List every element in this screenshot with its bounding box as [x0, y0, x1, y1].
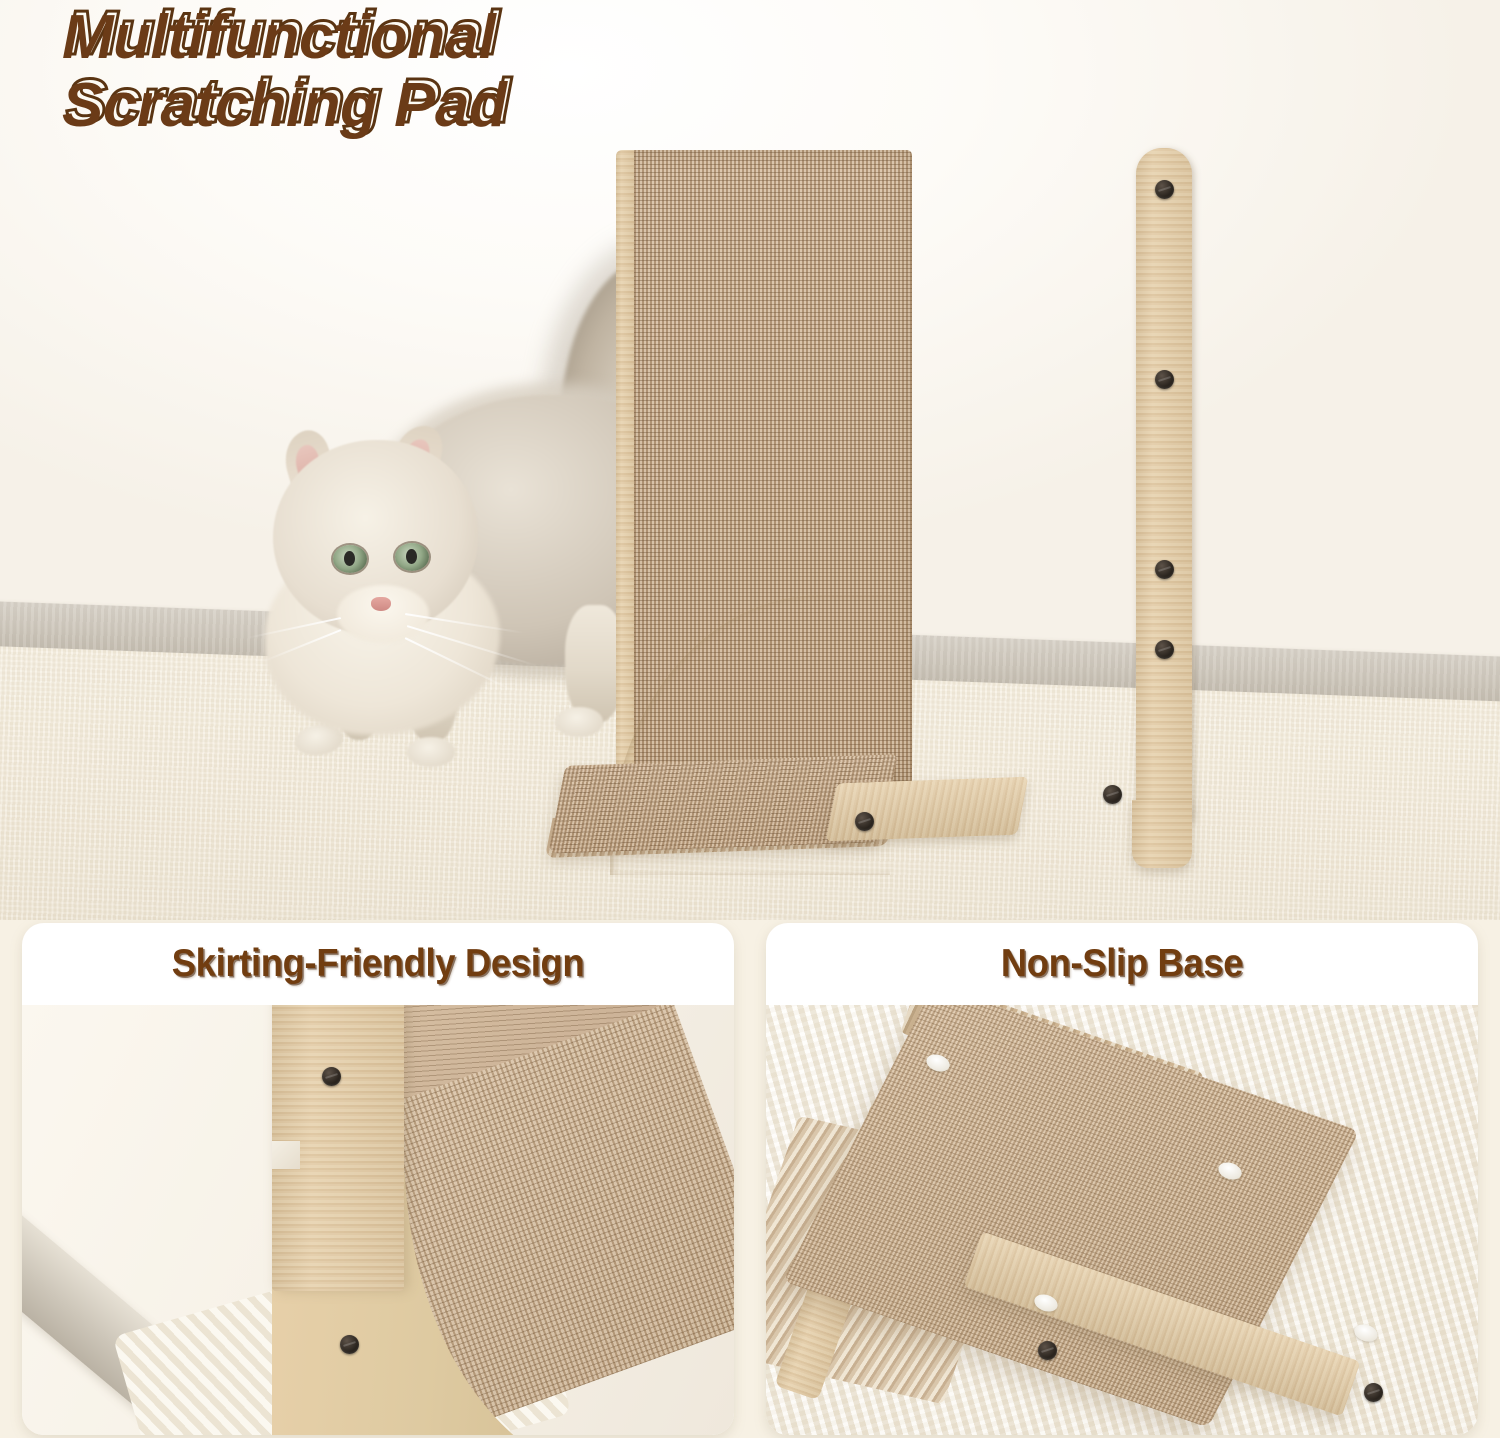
cat-eye-left [333, 545, 367, 573]
screw [1155, 370, 1174, 389]
screw [855, 812, 874, 831]
feature-photo-skirting [22, 1005, 734, 1435]
cat-nose [371, 597, 391, 611]
feature-photo-non-slip [766, 1005, 1478, 1435]
screw [1038, 1341, 1057, 1360]
sk-skirting-notch-cutout [272, 1141, 300, 1169]
feature-title-skirting: Skirting-Friendly Design [47, 923, 709, 1005]
base-front-wood-rail [826, 777, 1029, 842]
hero-title-line1: Multifunctional [62, 6, 842, 70]
side-panel-foot [1132, 800, 1192, 868]
cat-eye-right [395, 543, 429, 571]
cat-paw-front-right [407, 737, 455, 767]
screw [1364, 1383, 1383, 1402]
hero-section: Multifunctional Multifunctional Scratchi… [0, 0, 1500, 920]
feature-card-skirting-friendly-design[interactable]: Skirting-Friendly Design [22, 923, 734, 1435]
hero-title: Multifunctional Multifunctional Scratchi… [62, 6, 842, 138]
feature-title-non-slip: Non-Slip Base [791, 923, 1453, 1005]
screw [1103, 785, 1122, 804]
screw [1155, 640, 1174, 659]
side-wood-panel [1136, 148, 1192, 823]
screw [1155, 180, 1174, 199]
feature-cards: Skirting-Friendly Design Non-Slip Base [0, 923, 1500, 1435]
screw [1155, 560, 1174, 579]
scratching-pad-product [540, 140, 1200, 880]
hero-title-line2: Scratching Pad [62, 74, 842, 138]
screw [340, 1335, 359, 1354]
screw [322, 1067, 341, 1086]
feature-card-non-slip-base[interactable]: Non-Slip Base [766, 923, 1478, 1435]
